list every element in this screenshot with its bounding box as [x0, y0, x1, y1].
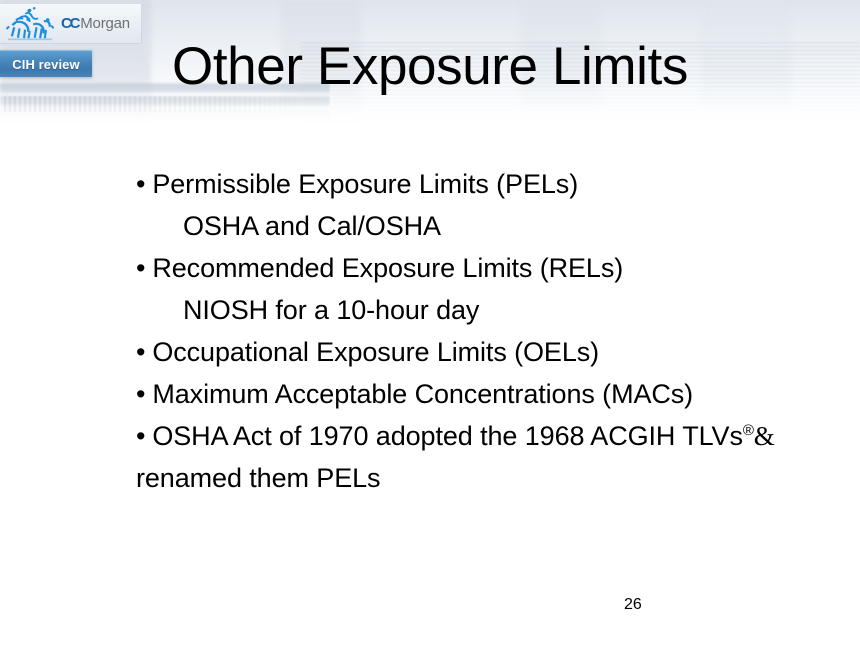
sub-item: NIOSH for a 10-hour day: [136, 289, 796, 331]
bullet-dot-icon: •: [136, 415, 145, 457]
logo-wordmark-name: Morgan: [80, 15, 130, 32]
bullet-text: Permissible Exposure Limits (PELs): [152, 169, 578, 199]
sub-item: OSHA and Cal/OSHA: [136, 205, 796, 247]
bullet-item-last: •OSHA Act of 1970 adopted the 1968 ACGIH…: [136, 415, 776, 499]
bullet-dot-icon: •: [136, 163, 145, 205]
bullet-item: •Occupational Exposure Limits (OELs): [136, 331, 796, 373]
logo-wordmark: CCMorgan: [61, 15, 130, 32]
slide-number: 26: [624, 596, 642, 614]
bullet-text-part1: OSHA Act of 1970 adopted the 1968 ACGIH …: [152, 421, 742, 451]
bullet-dot-icon: •: [136, 247, 145, 289]
bullet-text-part2: renamed them PELs: [136, 463, 380, 493]
sub-text: NIOSH for a 10-hour day: [183, 295, 479, 325]
bullet-text: Maximum Acceptable Concentrations (MACs): [152, 379, 693, 409]
bullet-item: •Recommended Exposure Limits (RELs): [136, 247, 796, 289]
ampersand-symbol: &: [754, 421, 775, 451]
body-content: •Permissible Exposure Limits (PELs) OSHA…: [136, 163, 796, 499]
bullet-item: •Maximum Acceptable Concentrations (MACs…: [136, 373, 796, 415]
bullet-dot-icon: •: [136, 373, 145, 415]
slide-canvas: CCMorgan CIH review Other Exposure Limit…: [0, 0, 860, 650]
bullet-dot-icon: •: [136, 331, 145, 373]
sub-text: OSHA and Cal/OSHA: [183, 211, 441, 241]
bullet-text: Occupational Exposure Limits (OELs): [152, 337, 599, 367]
logo-wordmark-prefix: CC: [61, 15, 78, 32]
bullet-item: •Permissible Exposure Limits (PELs): [136, 163, 796, 205]
registered-trademark-symbol: ®: [743, 422, 754, 439]
bullet-text: Recommended Exposure Limits (RELs): [152, 253, 623, 283]
page-title: Other Exposure Limits: [0, 36, 860, 98]
